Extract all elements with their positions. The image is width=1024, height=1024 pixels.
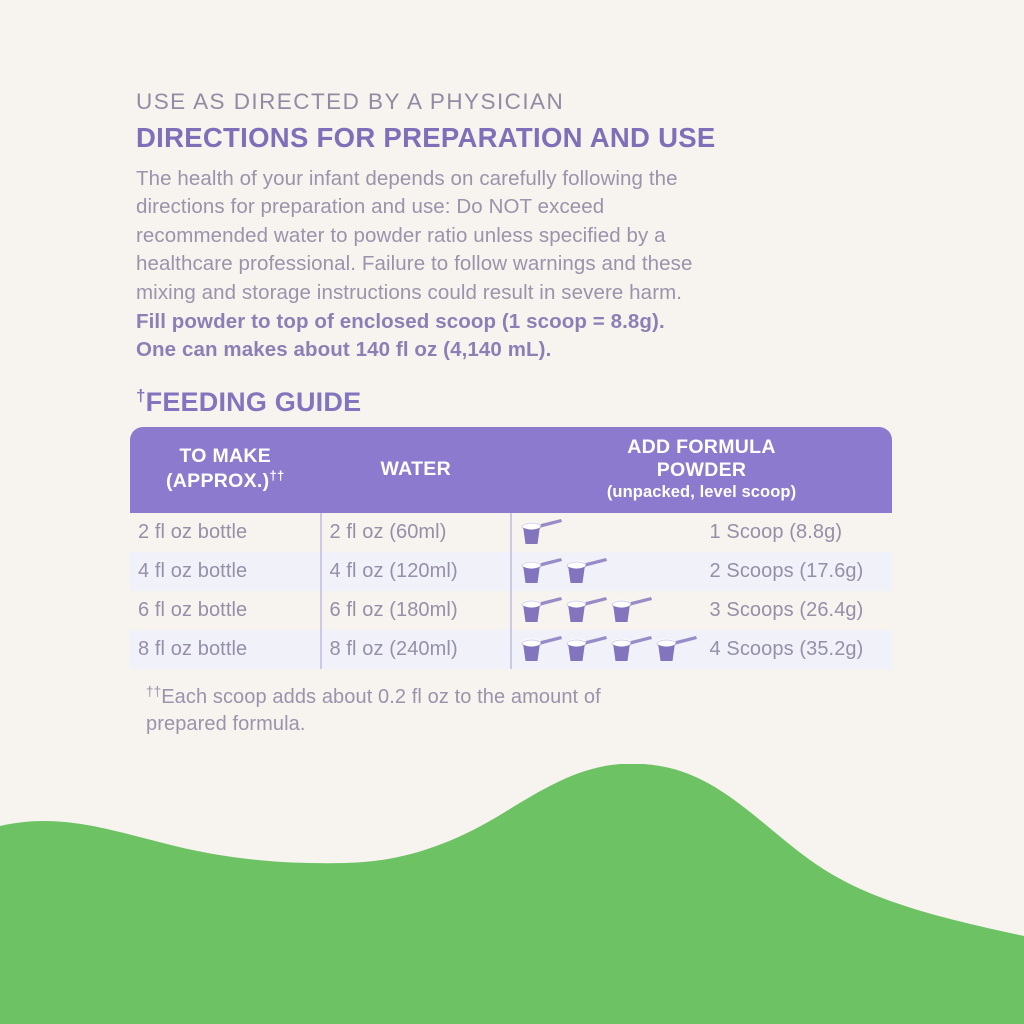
cell-to-make: 2 fl oz bottle: [130, 513, 321, 552]
cell-scoop-icons: [511, 630, 702, 669]
eyebrow-text: USE AS DIRECTED BY A PHYSICIAN: [136, 88, 936, 116]
scoop-icon: [565, 556, 609, 586]
footnote-line-text: Each scoop adds about 0.2 fl oz to the a…: [161, 686, 601, 708]
scoop-icon-group: [520, 556, 694, 586]
cell-scoop-icons: [511, 591, 702, 630]
column-header-line2: POWDER: [657, 459, 747, 481]
table-row: 4 fl oz bottle 4 fl oz (120ml) 2 Scoops …: [130, 552, 892, 591]
feeding-guide-title: †FEEDING GUIDE: [136, 387, 936, 418]
scoop-icon: [520, 517, 564, 547]
double-dagger-symbol: ††: [146, 684, 161, 699]
cell-scoop-icons: [511, 513, 702, 552]
page-root: USE AS DIRECTED BY A PHYSICIAN DIRECTION…: [0, 0, 1024, 1024]
table-row: 2 fl oz bottle 2 fl oz (60ml) 1 Scoop (8…: [130, 513, 892, 552]
scoop-icon: [565, 595, 609, 625]
green-wave-path: [0, 764, 1024, 1024]
column-header-line1: ADD FORMULA: [627, 436, 775, 458]
scoop-icon-group: [520, 517, 694, 547]
scoop-icon-svg: [610, 595, 654, 625]
intro-line: healthcare professional. Failure to foll…: [136, 250, 896, 279]
scoop-icon-svg: [610, 634, 654, 664]
scoop-icon-svg: [520, 634, 564, 664]
scoop-icon-svg: [565, 556, 609, 586]
column-header-water: WATER: [321, 427, 512, 512]
scoop-icon: [520, 556, 564, 586]
cell-to-make: 6 fl oz bottle: [130, 591, 321, 630]
cell-amount: 4 Scoops (35.2g): [702, 630, 893, 669]
table-row: 6 fl oz bottle 6 fl oz (180ml) 3 Scoops …: [130, 591, 892, 630]
scoop-icon-group: [520, 634, 694, 664]
intro-line: recommended water to powder ratio unless…: [136, 222, 896, 251]
scoop-icon-svg: [655, 634, 699, 664]
green-wave-svg: [0, 764, 1024, 1024]
table-body: 2 fl oz bottle 2 fl oz (60ml) 1 Scoop (8…: [130, 513, 892, 669]
scoop-icon: [565, 634, 609, 664]
scoop-icon-svg: [565, 595, 609, 625]
intro-bold-line: Fill powder to top of enclosed scoop (1 …: [136, 308, 896, 337]
scoop-icon-svg: [565, 634, 609, 664]
table-row: 8 fl oz bottle 8 fl oz (240ml) 4 Scoops …: [130, 630, 892, 669]
dagger-symbol: †: [136, 386, 146, 405]
page-title: DIRECTIONS FOR PREPARATION AND USE: [136, 122, 936, 154]
directions-panel: USE AS DIRECTED BY A PHYSICIAN DIRECTION…: [136, 88, 936, 739]
scoop-icon-svg: [520, 595, 564, 625]
cell-to-make: 4 fl oz bottle: [130, 552, 321, 591]
table-head: TO MAKE (APPROX.)†† WATER ADD FORMULA PO…: [130, 427, 892, 512]
scoop-icon: [655, 634, 699, 664]
cell-water: 6 fl oz (180ml): [321, 591, 512, 630]
column-header-line1: WATER: [381, 458, 451, 480]
footnote-line: prepared formula.: [146, 711, 846, 739]
green-wave-decoration: [0, 764, 1024, 1024]
column-header-line1: TO MAKE: [179, 445, 271, 467]
table-footnote: ††Each scoop adds about 0.2 fl oz to the…: [146, 678, 846, 739]
scoop-icon-svg: [520, 556, 564, 586]
footnote-line: ††Each scoop adds about 0.2 fl oz to the…: [146, 678, 846, 712]
scoop-icon: [610, 595, 654, 625]
scoop-icon: [520, 595, 564, 625]
scoop-icon-svg: [520, 517, 564, 547]
cell-amount: 3 Scoops (26.4g): [702, 591, 893, 630]
scoop-icon: [520, 634, 564, 664]
intro-line: directions for preparation and use: Do N…: [136, 193, 896, 222]
cell-water: 8 fl oz (240ml): [321, 630, 512, 669]
intro-paragraph: The health of your infant depends on car…: [136, 165, 896, 365]
column-header-add-formula-powder: ADD FORMULA POWDER (unpacked, level scoo…: [511, 427, 892, 512]
cell-water: 2 fl oz (60ml): [321, 513, 512, 552]
intro-bold-line: One can makes about 140 fl oz (4,140 mL)…: [136, 336, 896, 365]
scoop-icon: [610, 634, 654, 664]
column-header-line2: (APPROX.): [166, 470, 269, 492]
intro-line: The health of your infant depends on car…: [136, 165, 896, 194]
column-header-to-make: TO MAKE (APPROX.)††: [130, 427, 321, 512]
cell-scoop-icons: [511, 552, 702, 591]
column-header-subtext: (unpacked, level scoop): [513, 483, 890, 502]
feeding-guide-title-text: FEEDING GUIDE: [146, 387, 362, 417]
cell-to-make: 8 fl oz bottle: [130, 630, 321, 669]
feeding-guide-table: TO MAKE (APPROX.)†† WATER ADD FORMULA PO…: [130, 427, 892, 668]
table-header-row: TO MAKE (APPROX.)†† WATER ADD FORMULA PO…: [130, 427, 892, 512]
double-dagger-symbol: ††: [269, 468, 284, 483]
scoop-icon-group: [520, 595, 694, 625]
cell-water: 4 fl oz (120ml): [321, 552, 512, 591]
cell-amount: 2 Scoops (17.6g): [702, 552, 893, 591]
cell-amount: 1 Scoop (8.8g): [702, 513, 893, 552]
intro-line: mixing and storage instructions could re…: [136, 279, 896, 308]
